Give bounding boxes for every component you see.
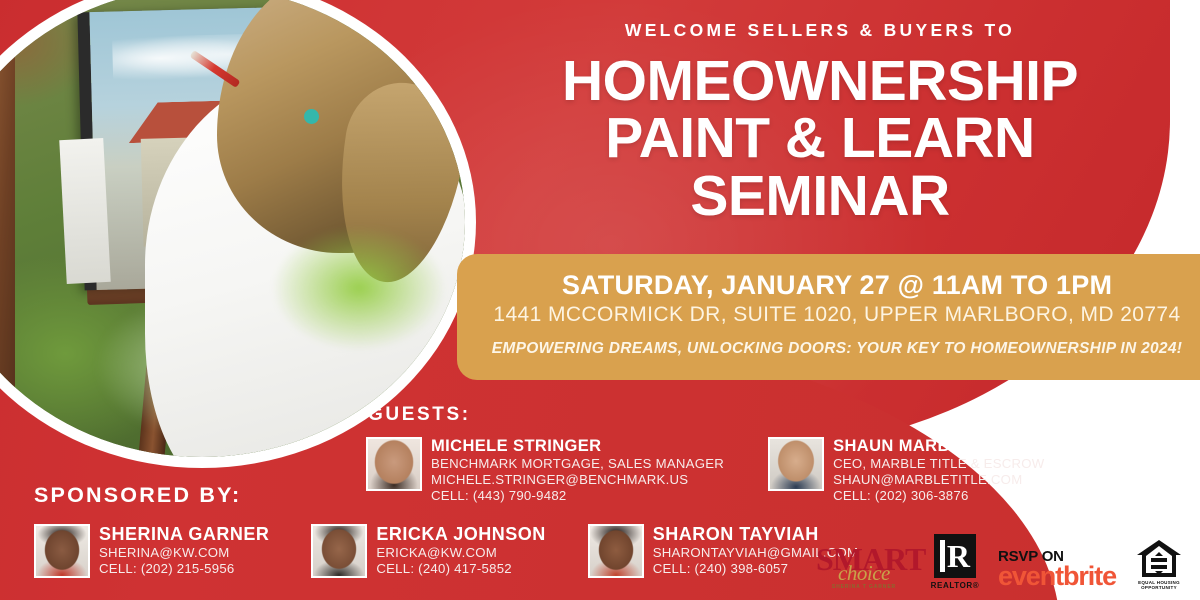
sponsor-photo-sherina — [36, 526, 88, 576]
sponsor-avatar-sharon-tayviah — [588, 524, 644, 578]
sponsor-name: SHERINA GARNER — [99, 524, 269, 544]
sponsor-email: SHERINA@KW.COM — [99, 545, 269, 561]
eyebrow-text: WELCOME SELLERS & BUYERS TO — [470, 22, 1170, 40]
guest-name: SHAUN MARBLE — [833, 437, 1044, 455]
guest-info-shaun: SHAUN MARBLE CEO, MARBLE TITLE & ESCROW … — [833, 437, 1044, 504]
smart-choice-subtext: SHERINA T GARNER — [816, 585, 912, 590]
guest-title: CEO, MARBLE TITLE & ESCROW — [833, 456, 1044, 472]
realtor-glyph: R — [940, 540, 970, 572]
equal-housing-label: EQUAL HOUSING OPPORTUNITY — [1130, 580, 1188, 590]
event-flyer: WELCOME SELLERS & BUYERS TO HOMEOWNERSHI… — [0, 0, 1200, 600]
photo-painter-earring — [304, 109, 319, 124]
photo-green-leaf-blur — [269, 223, 449, 353]
event-tagline: EMPOWERING DREAMS, UNLOCKING DOORS: YOUR… — [457, 340, 1200, 358]
sponsor-info-ericka: ERICKA JOHNSON ERICKA@KW.COM CELL: (240)… — [376, 524, 545, 577]
equal-housing-logo: EQUAL HOUSING OPPORTUNITY — [1130, 539, 1188, 590]
event-date-time: SATURDAY, JANUARY 27 @ 11AM TO 1PM — [457, 271, 1200, 300]
event-details-panel: SATURDAY, JANUARY 27 @ 11AM TO 1PM 1441 … — [457, 254, 1200, 380]
photo-wooden-post — [0, 0, 15, 457]
guests-heading: GUESTS: — [368, 404, 1045, 426]
guest-phone: CELL: (202) 306-3876 — [833, 488, 1044, 504]
sponsors-list: SHERINA GARNER SHERINA@KW.COM CELL: (202… — [34, 524, 858, 578]
hero-photo-image — [0, 0, 465, 457]
sponsor-photo-ericka — [313, 526, 365, 576]
smart-choice-logo: SMART choice SHERINA T GARNER — [816, 543, 912, 590]
sponsor-phone: CELL: (202) 215-5956 — [99, 561, 269, 577]
event-address: 1441 MCCORMICK DR, SUITE 1020, UPPER MAR… — [457, 302, 1200, 329]
realtor-logo: R REALTOR® — [926, 534, 984, 590]
sponsor-card-ericka-johnson: ERICKA JOHNSON ERICKA@KW.COM CELL: (240)… — [311, 524, 545, 578]
guest-email: SHAUN@MARBLETITLE.COM — [833, 472, 1044, 488]
guest-photo-shaun — [770, 439, 822, 489]
guest-photo-michele — [368, 439, 420, 489]
headline-block: WELCOME SELLERS & BUYERS TO HOMEOWNERSHI… — [470, 22, 1170, 224]
eventbrite-logo[interactable]: RSVP ON eventbrite — [998, 549, 1116, 590]
sponsor-photo-sharon — [590, 526, 642, 576]
guest-name: MICHELE STRINGER — [431, 437, 724, 455]
sponsors-section: SPONSORED BY: SHERINA GARNER SHERINA@KW.… — [34, 483, 858, 578]
sponsor-name: ERICKA JOHNSON — [376, 524, 545, 544]
realtor-r-icon: R — [934, 534, 976, 578]
title-line-3: SEMINAR — [470, 169, 1170, 224]
title-line-2: PAINT & LEARN — [470, 111, 1170, 166]
eventbrite-wordmark: eventbrite — [998, 563, 1116, 590]
sponsor-email: ERICKA@KW.COM — [376, 545, 545, 561]
sponsor-avatar-sherina-garner — [34, 524, 90, 578]
hero-photo-oval — [0, 0, 476, 468]
photo-paper-sheet — [59, 138, 110, 284]
guest-title: BENCHMARK MORTGAGE, SALES MANAGER — [431, 456, 724, 472]
sponsors-heading: SPONSORED BY: — [34, 483, 858, 508]
sponsor-info-sherina: SHERINA GARNER SHERINA@KW.COM CELL: (202… — [99, 524, 269, 577]
sponsor-card-sherina-garner: SHERINA GARNER SHERINA@KW.COM CELL: (202… — [34, 524, 269, 578]
sponsor-avatar-ericka-johnson — [311, 524, 367, 578]
sponsor-phone: CELL: (240) 417-5852 — [376, 561, 545, 577]
equal-housing-icon — [1136, 539, 1182, 579]
realtor-label: REALTOR® — [926, 581, 984, 590]
logo-strip: SMART choice SHERINA T GARNER R REALTOR®… — [816, 534, 1188, 590]
title-line-1: HOMEOWNERSHIP — [470, 54, 1170, 109]
